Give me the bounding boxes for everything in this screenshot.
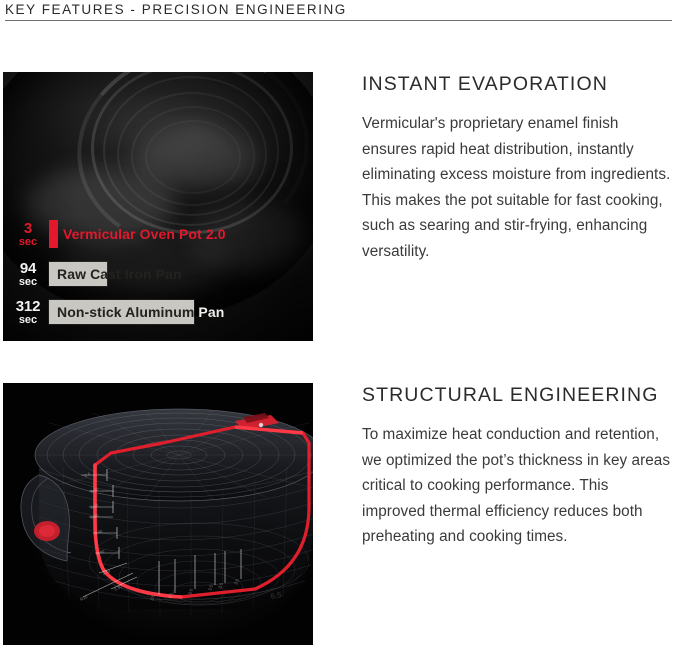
- feature-heading: INSTANT EVAPORATION: [362, 72, 674, 96]
- cad-wireframe-svg: 6.5 3.70 3.20 3.00 3.00 3.00 3.40 3.30 R…: [3, 383, 313, 645]
- chart-bar-label: Non-stick Aluminum Pan: [57, 304, 224, 320]
- feature-paragraph: Vermicular's proprietary enamel finish e…: [362, 111, 674, 265]
- page-title: KEY FEATURES - PRECISION ENGINEERING: [5, 0, 673, 18]
- chart-bar-number: 312: [12, 299, 44, 314]
- chart-bar-label-text: Non-stick Aluminum: [57, 304, 198, 320]
- chart-bar-fill: Raw Cast Iron Pan: [49, 262, 107, 286]
- feature-heading: STRUCTURAL ENGINEERING: [362, 383, 674, 407]
- chart-bar-value: 94 sec: [12, 261, 44, 288]
- chart-bar-fill: Non-stick Aluminum Pan: [49, 300, 194, 324]
- feature-copy-evaporation: INSTANT EVAPORATION Vermicular's proprie…: [362, 72, 674, 265]
- section-header: KEY FEATURES - PRECISION ENGINEERING: [5, 0, 673, 18]
- chart-bar-value: 312 sec: [12, 299, 44, 326]
- feature-copy-structural: STRUCTURAL ENGINEERING To maximize heat …: [362, 383, 674, 550]
- chart-bar-number: 3: [12, 221, 44, 236]
- chart-bar-fill: Vermicular Oven Pot 2.0: [49, 220, 58, 248]
- feature-paragraph: To maximize heat conduction and retentio…: [362, 422, 674, 550]
- evaporation-time-chart: 3 sec Vermicular Oven Pot 2.0 94 sec Raw…: [3, 211, 313, 341]
- header-divider: [5, 20, 672, 21]
- chart-bar-label: Vermicular Oven Pot 2.0: [63, 226, 226, 242]
- chart-bar-label: Raw Cast Iron Pan: [57, 266, 182, 282]
- feature-image-evaporation: 3 sec Vermicular Oven Pot 2.0 94 sec Raw…: [3, 72, 313, 341]
- chart-bar-value: 3 sec: [12, 221, 44, 248]
- feature-image-structural: 6.5 3.70 3.20 3.00 3.00 3.00 3.40 3.30 R…: [3, 383, 313, 645]
- feature-page: KEY FEATURES - PRECISION ENGINEERING: [0, 0, 679, 653]
- chart-bar-row: 3 sec Vermicular Oven Pot 2.0: [12, 220, 58, 248]
- chart-bar-number: 94: [12, 261, 44, 276]
- chart-bar-unit: sec: [12, 237, 44, 248]
- steam-plume-2: [133, 128, 263, 188]
- chart-bar-label-overflow: Pan: [198, 304, 224, 320]
- chart-bar-row: 94 sec Raw Cast Iron Pan: [12, 260, 107, 288]
- chart-bar-row: 312 sec Non-stick Aluminum Pan: [12, 298, 194, 326]
- chart-bar-unit: sec: [12, 277, 44, 288]
- chart-bar-unit: sec: [12, 315, 44, 326]
- cad-wireframe-photo: 6.5 3.70 3.20 3.00 3.00 3.00 3.40 3.30 R…: [3, 383, 313, 645]
